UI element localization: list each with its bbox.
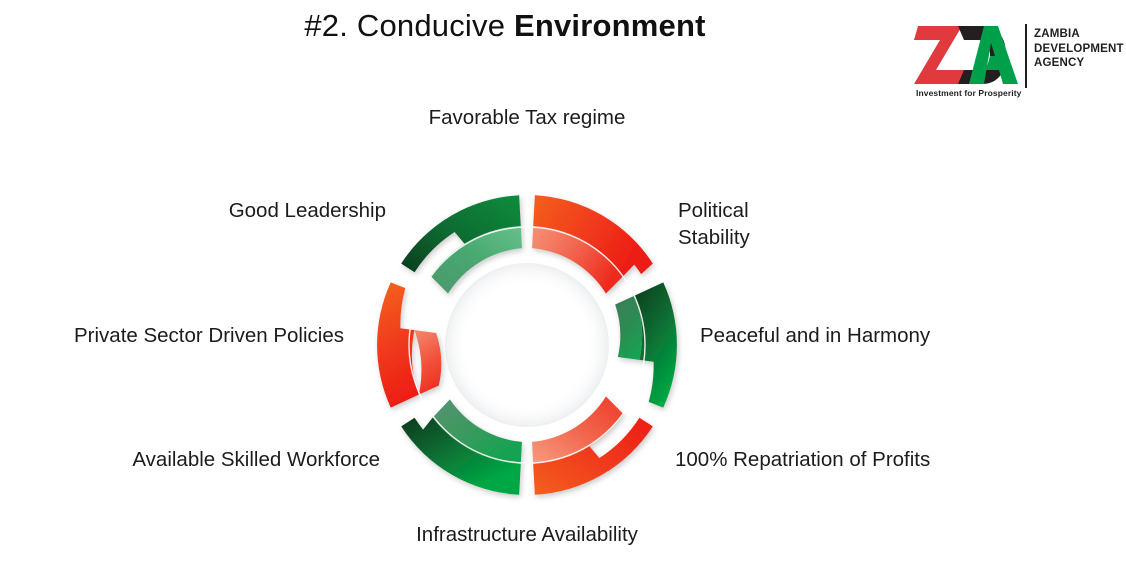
zda-letter-z-icon — [914, 26, 966, 84]
zda-logo-word-3: AGENCY — [1034, 56, 1124, 71]
zda-logo-divider — [1025, 24, 1027, 88]
zda-logo-tagline: Investment for Prosperity — [916, 88, 1021, 98]
label-political-stability: Political Stability — [678, 197, 918, 251]
label-available-skilled-workforce: Available Skilled Workforce — [56, 446, 380, 473]
label-infrastructure-availability: Infrastructure Availability — [327, 521, 727, 548]
zda-logo-word-1: ZAMBIA — [1034, 27, 1124, 42]
label-repatriation-of-profits: 100% Repatriation of Profits — [675, 446, 1015, 473]
label-peaceful-and-in-harmony: Peaceful and in Harmony — [700, 322, 1020, 349]
label-good-leadership: Good Leadership — [85, 197, 386, 224]
page-title-prefix: #2. Conducive — [304, 8, 514, 43]
page-title-emphasis: Environment — [514, 8, 706, 43]
donut-hole — [445, 263, 609, 427]
zda-logo-mark — [912, 22, 1020, 88]
page-title: #2. Conducive Environment — [0, 8, 1010, 44]
conducive-environment-donut-chart — [357, 175, 697, 515]
zda-logo-word-2: DEVELOPMENT — [1034, 42, 1124, 57]
label-favorable-tax-regime: Favorable Tax regime — [327, 104, 727, 131]
zda-logo: Investment for Prosperity ZAMBIA DEVELOP… — [912, 22, 1112, 108]
zda-logo-wordmark: ZAMBIA DEVELOPMENT AGENCY — [1034, 27, 1124, 71]
slide-canvas: #2. Conducive Environment Investment for… — [0, 0, 1126, 563]
donut-segment-peaceful-and-in-harmony[interactable] — [615, 282, 677, 407]
label-private-sector-driven-policies: Private Sector Driven Policies — [6, 322, 344, 349]
